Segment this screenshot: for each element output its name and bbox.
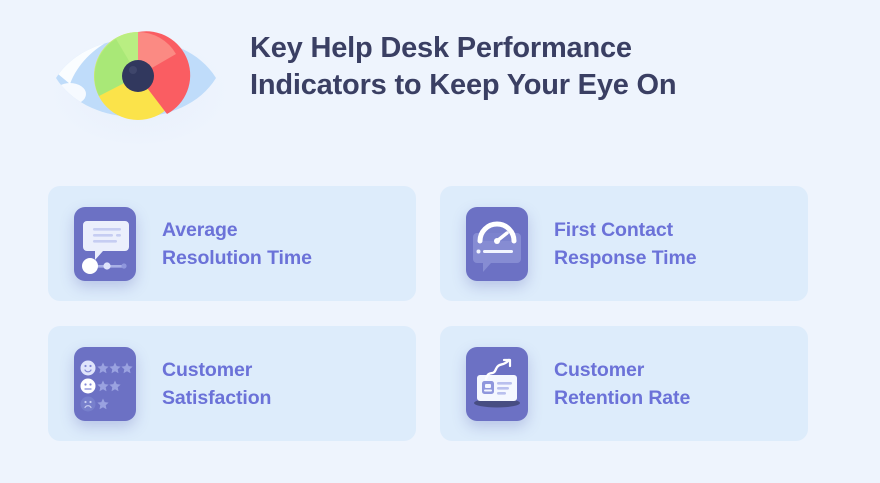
kpi-label-customer-satisfaction: Customer Satisfaction bbox=[162, 356, 271, 412]
kpi-label-average-resolution-time: Average Resolution Time bbox=[162, 216, 312, 272]
page-title: Key Help Desk Performance Indicators to … bbox=[250, 30, 790, 104]
eye-pie-chart-illustration bbox=[44, 8, 234, 148]
smiley-star-rating-icon-svg bbox=[74, 347, 136, 421]
kpi-label-customer-retention-rate: Customer Retention Rate bbox=[554, 356, 690, 412]
kpi-card-customer-satisfaction[interactable]: Customer Satisfaction bbox=[48, 326, 416, 441]
kpi-label-line-1: Customer bbox=[554, 356, 690, 384]
header: Key Help Desk Performance Indicators to … bbox=[0, 0, 880, 165]
speech-bubble-slider-icon bbox=[74, 207, 136, 281]
infographic-page: Key Help Desk Performance Indicators to … bbox=[0, 0, 880, 483]
kpi-card-average-resolution-time[interactable]: Average Resolution Time bbox=[48, 186, 416, 301]
rating-row-happy bbox=[81, 360, 133, 375]
speedometer-speech-bubble-icon bbox=[466, 207, 528, 281]
kpi-card-customer-retention-rate[interactable]: Customer Retention Rate bbox=[440, 326, 808, 441]
kpi-label-line-2: Response Time bbox=[554, 244, 696, 272]
pupil-highlight bbox=[129, 66, 137, 74]
speech-bubble-slider-icon-svg bbox=[74, 207, 136, 281]
kpi-label-first-contact-response-time: First Contact Response Time bbox=[554, 216, 696, 272]
kpi-label-line-1: Customer bbox=[162, 356, 271, 384]
kpi-card-grid: Average Resolution Time First Contact bbox=[48, 186, 808, 441]
speedometer-speech-bubble-icon-svg bbox=[466, 207, 528, 281]
id-card-trend-line-icon bbox=[466, 347, 528, 421]
kpi-label-line-1: Average bbox=[162, 216, 312, 244]
page-title-line-1: Key Help Desk Performance bbox=[250, 30, 790, 67]
eye-illustration-svg bbox=[44, 8, 234, 148]
kpi-label-line-1: First Contact bbox=[554, 216, 696, 244]
rating-row-sad bbox=[81, 396, 109, 411]
smiley-star-rating-icon bbox=[74, 347, 136, 421]
page-title-line-2: Indicators to Keep Your Eye On bbox=[250, 67, 790, 104]
kpi-label-line-2: Retention Rate bbox=[554, 384, 690, 412]
id-card-trend-line-icon-svg bbox=[466, 347, 528, 421]
kpi-label-line-2: Resolution Time bbox=[162, 244, 312, 272]
rating-row-neutral bbox=[81, 378, 121, 393]
kpi-label-line-2: Satisfaction bbox=[162, 384, 271, 412]
kpi-card-first-contact-response-time[interactable]: First Contact Response Time bbox=[440, 186, 808, 301]
eye-pupil bbox=[122, 60, 154, 92]
